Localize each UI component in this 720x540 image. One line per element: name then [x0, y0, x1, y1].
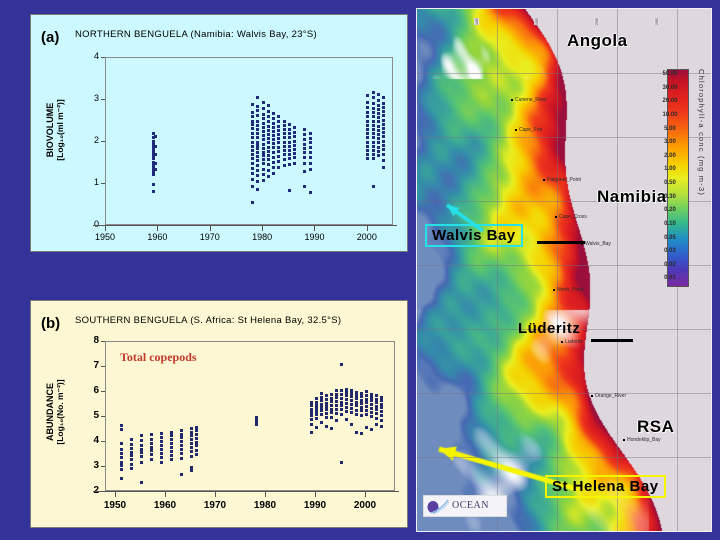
- data-point: [267, 115, 270, 118]
- data-point: [375, 423, 378, 426]
- y-tick-label: 2: [77, 135, 99, 145]
- data-point: [372, 141, 375, 144]
- data-point: [345, 398, 348, 401]
- data-point: [288, 145, 291, 148]
- data-point: [154, 153, 157, 156]
- data-point: [130, 463, 133, 466]
- data-point: [256, 114, 259, 117]
- x-tick-label: 2000: [347, 232, 387, 242]
- data-point: [154, 145, 157, 148]
- data-point: [366, 106, 369, 109]
- data-point: [360, 409, 363, 412]
- data-point: [382, 159, 385, 162]
- data-point: [120, 428, 123, 431]
- data-point: [382, 102, 385, 105]
- data-point: [160, 448, 163, 451]
- data-point: [382, 140, 385, 143]
- data-point: [366, 94, 369, 97]
- data-point: [180, 448, 183, 451]
- map-place-marker: [591, 395, 593, 397]
- data-point: [120, 461, 123, 464]
- data-point: [150, 449, 153, 452]
- y-tick-label: 8: [77, 335, 99, 346]
- data-point: [160, 444, 163, 447]
- data-point: [140, 481, 143, 484]
- data-point: [120, 468, 123, 471]
- data-point: [160, 461, 163, 464]
- data-point: [283, 145, 286, 148]
- data-point: [277, 125, 280, 128]
- data-point: [355, 397, 358, 400]
- colorbar-value: 3.00: [657, 139, 683, 145]
- x-tick-label: 1980: [242, 232, 282, 242]
- data-point: [372, 115, 375, 118]
- data-point: [262, 173, 265, 176]
- data-point: [277, 160, 280, 163]
- map-gridline: [417, 393, 711, 394]
- data-point: [120, 442, 123, 445]
- data-point: [315, 397, 318, 400]
- data-point: [365, 401, 368, 404]
- data-point: [330, 416, 333, 419]
- colorbar-value: 0.20: [657, 207, 683, 213]
- data-point: [277, 120, 280, 123]
- data-point: [366, 153, 369, 156]
- y-tick-mark: [101, 391, 105, 392]
- data-point: [309, 156, 312, 159]
- colorbar-value: 0.05: [657, 235, 683, 241]
- y-tick-mark: [101, 57, 105, 58]
- data-point: [366, 101, 369, 104]
- data-point: [262, 179, 265, 182]
- data-point: [140, 444, 143, 447]
- x-tick-label: 1970: [195, 500, 235, 511]
- data-point: [293, 135, 296, 138]
- data-point: [377, 146, 380, 149]
- colorbar-value: 0.01: [657, 275, 683, 281]
- data-point: [150, 442, 153, 445]
- colorbar-value: 10.00: [657, 112, 683, 118]
- slide-root: (a) NORTHERN BENGUELA (Namibia: Walvis B…: [0, 0, 720, 540]
- data-point: [293, 156, 296, 159]
- data-point: [293, 148, 296, 151]
- data-point: [303, 138, 306, 141]
- map-gridline: [617, 9, 618, 531]
- data-point: [377, 99, 380, 102]
- data-point: [366, 145, 369, 148]
- y-tick-mark: [101, 441, 105, 442]
- callout-walvis-bay[interactable]: Walvis Bay: [425, 224, 523, 247]
- y-tick-mark: [101, 341, 105, 342]
- data-point: [370, 399, 373, 402]
- data-point: [190, 446, 193, 449]
- data-point: [256, 136, 259, 139]
- data-point: [262, 168, 265, 171]
- data-point: [377, 108, 380, 111]
- satellite-chlorophyll-map[interactable]: AngolaNamibiaRSACunene_RiverCape_FrioPal…: [416, 8, 712, 532]
- data-point: [272, 151, 275, 154]
- x-tick-mark: [365, 492, 366, 497]
- data-point: [350, 423, 353, 426]
- data-point: [120, 477, 123, 480]
- colorbar-value: 30.00: [657, 85, 683, 91]
- data-point: [375, 417, 378, 420]
- data-point: [283, 164, 286, 167]
- data-point: [303, 170, 306, 173]
- data-point: [372, 185, 375, 188]
- data-point: [288, 149, 291, 152]
- data-point: [360, 406, 363, 409]
- data-point: [350, 407, 353, 410]
- data-point: [293, 126, 296, 129]
- data-point: [251, 185, 254, 188]
- ocean-logo-text: OCEAN: [452, 500, 489, 511]
- map-grid-tick: 10E: [474, 18, 479, 25]
- data-point: [370, 407, 373, 410]
- data-point: [251, 136, 254, 139]
- data-point: [267, 175, 270, 178]
- data-point: [309, 132, 312, 135]
- colorbar-value: 5.00: [657, 126, 683, 132]
- colorbar-title: Chlorophyll-a conc (mg m-3): [697, 69, 706, 196]
- data-point: [372, 157, 375, 160]
- data-point: [170, 442, 173, 445]
- data-point: [355, 404, 358, 407]
- data-point: [277, 133, 280, 136]
- data-point: [272, 166, 275, 169]
- colorbar-value: 0.02: [657, 262, 683, 268]
- data-point: [375, 412, 378, 415]
- map-place-marker: [515, 129, 517, 131]
- data-point: [267, 120, 270, 123]
- data-point: [283, 149, 286, 152]
- data-point: [340, 404, 343, 407]
- data-point: [277, 129, 280, 132]
- x-tick-mark: [314, 226, 315, 231]
- x-tick-mark: [105, 226, 106, 231]
- data-point: [267, 158, 270, 161]
- data-point: [272, 134, 275, 137]
- data-point: [130, 447, 133, 450]
- data-point: [382, 144, 385, 147]
- data-point: [195, 449, 198, 452]
- data-point: [288, 157, 291, 160]
- panel-b-ylabel-line2: [Log₁₀(No. m⁻²)]: [55, 337, 66, 487]
- data-point: [195, 429, 198, 432]
- data-point: [382, 127, 385, 130]
- data-point: [320, 396, 323, 399]
- data-point: [256, 169, 259, 172]
- data-point: [303, 147, 306, 150]
- data-point: [251, 149, 254, 152]
- leader-line-luderitz: [591, 339, 633, 342]
- data-point: [256, 159, 259, 162]
- data-point: [372, 107, 375, 110]
- data-point: [320, 392, 323, 395]
- data-point: [256, 96, 259, 99]
- data-point: [267, 110, 270, 113]
- data-point: [190, 442, 193, 445]
- data-point: [360, 432, 363, 435]
- map-grid-tick: 15E: [534, 18, 539, 25]
- data-point: [365, 394, 368, 397]
- data-point: [251, 172, 254, 175]
- map-country-label: Angola: [567, 31, 628, 51]
- map-place-marker: [511, 99, 513, 101]
- data-point: [251, 111, 254, 114]
- data-point: [283, 124, 286, 127]
- data-point: [372, 128, 375, 131]
- data-point: [372, 136, 375, 139]
- data-point: [256, 188, 259, 191]
- data-point: [120, 424, 123, 427]
- data-point: [288, 153, 291, 156]
- data-point: [272, 161, 275, 164]
- data-point: [190, 431, 193, 434]
- data-point: [366, 149, 369, 152]
- data-point: [283, 120, 286, 123]
- data-point: [262, 122, 265, 125]
- data-point: [377, 129, 380, 132]
- data-point: [170, 454, 173, 457]
- data-point: [262, 117, 265, 120]
- x-tick-mark: [157, 226, 158, 231]
- data-point: [190, 469, 193, 472]
- panel-b-plot-area: Total copepods: [105, 341, 395, 491]
- data-point: [340, 393, 343, 396]
- data-point: [355, 413, 358, 416]
- data-point: [288, 132, 291, 135]
- data-point: [315, 417, 318, 420]
- callout-st-helena-bay[interactable]: St Helena Bay: [545, 475, 666, 498]
- map-gridline: [417, 457, 711, 458]
- data-point: [272, 130, 275, 133]
- data-point: [372, 120, 375, 123]
- data-point: [372, 132, 375, 135]
- data-point: [377, 112, 380, 115]
- callout-luderitz[interactable]: Lüderitz: [513, 319, 585, 338]
- map-grid-tick: 20E: [594, 18, 599, 25]
- x-tick-label: 1950: [85, 232, 125, 242]
- panel-a-title: NORTHERN BENGUELA (Namibia: Walvis Bay, …: [75, 29, 317, 40]
- data-point: [382, 148, 385, 151]
- data-point: [366, 141, 369, 144]
- y-tick-mark: [101, 99, 105, 100]
- data-point: [256, 174, 259, 177]
- data-point: [372, 102, 375, 105]
- data-point: [251, 178, 254, 181]
- data-point: [262, 107, 265, 110]
- data-point: [355, 431, 358, 434]
- data-point: [283, 136, 286, 139]
- x-tick-label: 1960: [145, 500, 185, 511]
- data-point: [262, 101, 265, 104]
- data-point: [130, 438, 133, 441]
- data-point: [251, 145, 254, 148]
- data-point: [370, 403, 373, 406]
- data-point: [335, 408, 338, 411]
- map-grid-tick: 25E: [654, 18, 659, 25]
- x-tick-label: 1980: [245, 500, 285, 511]
- data-point: [195, 433, 198, 436]
- data-point: [382, 110, 385, 113]
- y-tick-mark: [101, 466, 105, 467]
- data-point: [382, 119, 385, 122]
- data-point: [130, 443, 133, 446]
- data-point: [277, 115, 280, 118]
- data-point: [180, 473, 183, 476]
- chart-panel-a: (a) NORTHERN BENGUELA (Namibia: Walvis B…: [30, 14, 408, 252]
- data-point: [310, 401, 313, 404]
- data-point: [195, 441, 198, 444]
- y-tick-label: 3: [77, 93, 99, 103]
- data-point: [365, 426, 368, 429]
- data-point: [262, 113, 265, 116]
- data-point: [277, 137, 280, 140]
- data-point: [360, 402, 363, 405]
- data-point: [262, 138, 265, 141]
- data-point: [345, 394, 348, 397]
- data-point: [303, 133, 306, 136]
- data-point: [256, 120, 259, 123]
- data-point: [267, 129, 270, 132]
- chart-panel-b: (b) SOUTHERN BENGUELA (S. Africa: St Hel…: [30, 300, 408, 528]
- x-axis-line: [93, 491, 399, 492]
- data-point: [190, 434, 193, 437]
- data-point: [256, 105, 259, 108]
- data-point: [152, 190, 155, 193]
- data-point: [272, 112, 275, 115]
- swoosh-icon: [427, 499, 449, 515]
- data-point: [340, 408, 343, 411]
- data-point: [382, 135, 385, 138]
- data-point: [154, 135, 157, 138]
- map-place-label: Cape_Frio: [519, 127, 542, 133]
- data-point: [190, 427, 193, 430]
- data-point: [382, 96, 385, 99]
- data-point: [293, 144, 296, 147]
- data-point: [360, 414, 363, 417]
- data-point: [288, 128, 291, 131]
- y-tick-label: 3: [77, 460, 99, 471]
- data-point: [380, 425, 383, 428]
- data-point: [120, 464, 123, 467]
- data-point: [345, 402, 348, 405]
- data-point: [365, 413, 368, 416]
- panel-b-tag: (b): [41, 315, 60, 332]
- y-tick-mark: [101, 416, 105, 417]
- y-tick-label: 1: [77, 177, 99, 187]
- data-point: [340, 389, 343, 392]
- data-point: [309, 151, 312, 154]
- data-point: [377, 120, 380, 123]
- map-place-marker: [623, 439, 625, 441]
- data-point: [335, 419, 338, 422]
- data-point: [150, 433, 153, 436]
- data-point: [195, 453, 198, 456]
- data-point: [130, 467, 133, 470]
- data-point: [382, 114, 385, 117]
- data-point: [380, 419, 383, 422]
- data-point: [256, 109, 259, 112]
- data-point: [140, 461, 143, 464]
- data-point: [350, 411, 353, 414]
- data-point: [272, 126, 275, 129]
- data-point: [309, 191, 312, 194]
- data-point: [372, 149, 375, 152]
- data-point: [315, 413, 318, 416]
- data-point: [267, 104, 270, 107]
- data-point: [288, 189, 291, 192]
- data-point: [150, 438, 153, 441]
- data-point: [262, 158, 265, 161]
- data-point: [350, 403, 353, 406]
- data-point: [267, 163, 270, 166]
- data-point: [251, 162, 254, 165]
- data-point: [293, 152, 296, 155]
- data-point: [267, 125, 270, 128]
- data-point: [309, 168, 312, 171]
- data-point: [180, 436, 183, 439]
- colorbar-value: 0.03: [657, 248, 683, 254]
- data-point: [251, 115, 254, 118]
- x-tick-label: 2000: [345, 500, 385, 511]
- panel-a-tag: (a): [41, 29, 59, 46]
- map-place-label: Luderitz: [565, 339, 583, 345]
- data-point: [267, 154, 270, 157]
- data-point: [272, 156, 275, 159]
- data-point: [315, 426, 318, 429]
- panel-b-annotation: Total copepods: [120, 350, 197, 365]
- y-tick-label: 0: [77, 219, 99, 229]
- data-point: [170, 434, 173, 437]
- data-point: [152, 183, 155, 186]
- data-point: [309, 162, 312, 165]
- data-point: [277, 150, 280, 153]
- data-point: [130, 458, 133, 461]
- map-country-label: RSA: [637, 417, 674, 437]
- data-point: [130, 454, 133, 457]
- data-point: [190, 450, 193, 453]
- data-point: [251, 132, 254, 135]
- data-point: [272, 172, 275, 175]
- data-point: [140, 439, 143, 442]
- data-point: [170, 438, 173, 441]
- data-point: [325, 425, 328, 428]
- data-point: [310, 418, 313, 421]
- data-point: [277, 155, 280, 158]
- data-point: [325, 398, 328, 401]
- data-point: [377, 116, 380, 119]
- data-point: [256, 151, 259, 154]
- colorbar-tick-labels: 50.0030.0020.0010.005.003.002.001.000.50…: [657, 67, 687, 289]
- map-place-label: Hondeklip_Bay: [627, 437, 661, 443]
- data-point: [288, 136, 291, 139]
- data-point: [170, 446, 173, 449]
- data-point: [377, 150, 380, 153]
- data-point: [325, 412, 328, 415]
- colorbar-value: 20.00: [657, 98, 683, 104]
- data-point: [303, 162, 306, 165]
- x-tick-label: 1990: [294, 232, 334, 242]
- data-point: [366, 128, 369, 131]
- data-point: [262, 134, 265, 137]
- data-point: [370, 411, 373, 414]
- data-point: [160, 436, 163, 439]
- data-point: [150, 458, 153, 461]
- data-point: [330, 404, 333, 407]
- y-tick-mark: [101, 183, 105, 184]
